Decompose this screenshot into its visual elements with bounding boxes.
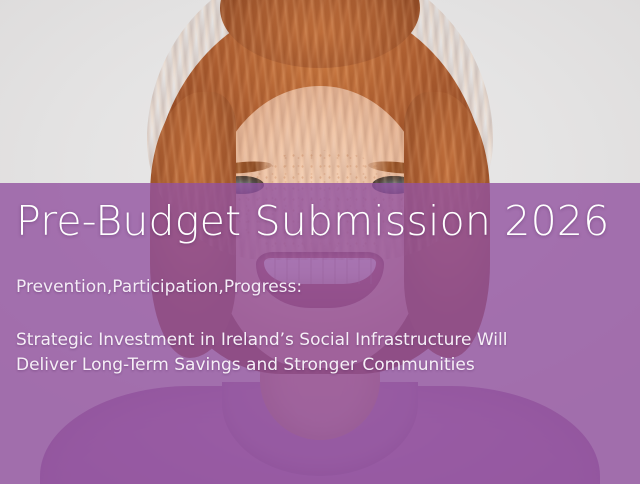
pre-budget-submission-poster: Pre-Budget Submission 2026 Prevention,Pa… (0, 0, 640, 484)
poster-subhead-line-1: Strategic Investment in Ireland’s Social… (16, 328, 616, 353)
poster-subhead-line-2: Deliver Long-Term Savings and Stronger C… (16, 353, 616, 378)
poster-subhead: Strategic Investment in Ireland’s Social… (16, 328, 616, 377)
page-title: Pre-Budget Submission 2026 (16, 199, 624, 245)
poster-text-block: Pre-Budget Submission 2026 Prevention,Pa… (0, 183, 640, 484)
poster-tagline: Prevention,Participation,Progress: (16, 277, 624, 298)
